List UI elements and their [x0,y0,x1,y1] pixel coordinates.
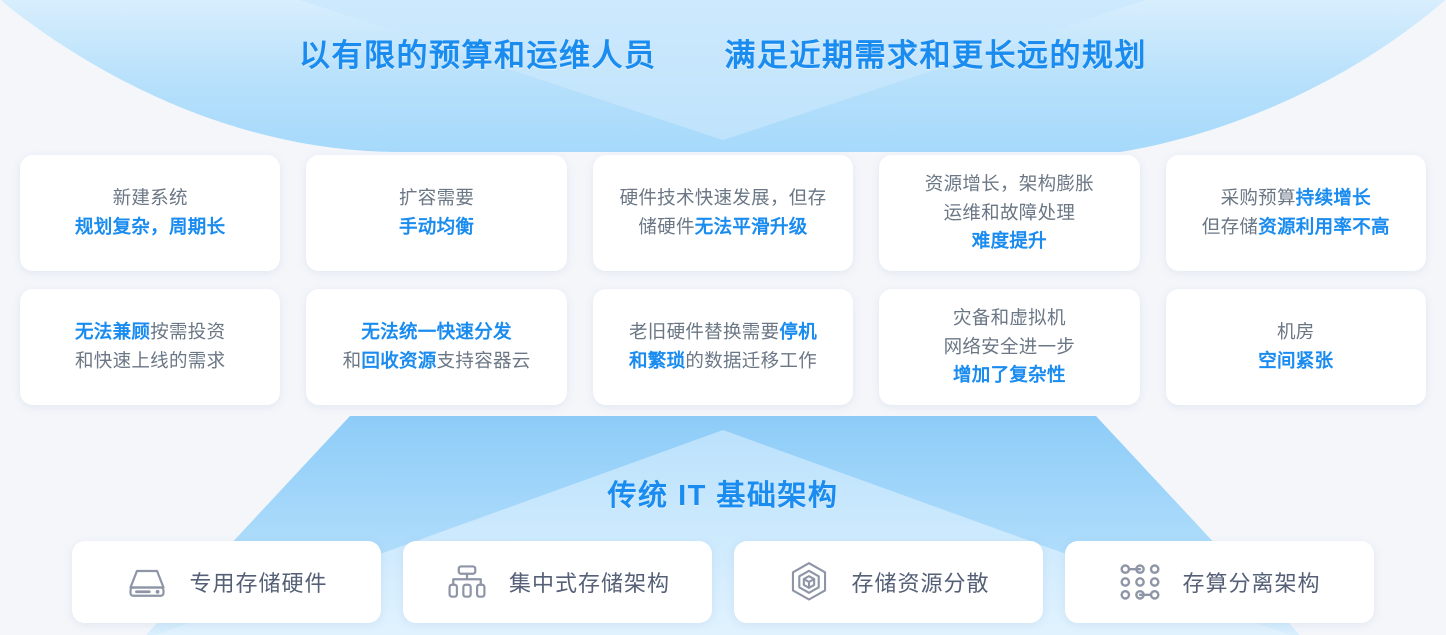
card-datacenter-space: 机房空间紧张 [1166,289,1426,405]
card-legacy-migration: 老旧硬件替换需要停机和繁琐的数据迁移工作 [593,289,853,405]
legacy-architecture-items: 专用存储硬件 集中式存储架构 [72,541,1374,623]
card-text: 机房空间紧张 [1258,318,1333,375]
item-label: 集中式存储架构 [509,566,670,598]
card-resource-growth: 资源增长，架构膨胀运维和故障处理难度提升 [879,155,1139,271]
card-text: 灾备和虚拟机网络安全进一步增加了复杂性 [944,304,1076,390]
bg-top-left-corner [0,0,420,160]
top-heading-1: 以有限的预算和运维人员 [299,30,657,75]
card-text: 资源增长，架构膨胀运维和故障处理难度提升 [925,170,1094,256]
card-text: 老旧硬件替换需要停机和繁琐的数据迁移工作 [629,318,817,375]
pain-point-card-grid: 新建系统规划复杂，周期长 扩容需要手动均衡 硬件技术快速发展，但存储硬件无法平滑… [20,155,1426,405]
top-heading-2: 满足近期需求和更长远的规划 [725,30,1148,75]
bg-top-left-cutout [0,0,400,152]
item-label: 存储资源分散 [851,566,989,598]
node-grid-icon [1118,560,1162,604]
item-dedicated-storage-hardware[interactable]: 专用存储硬件 [72,541,381,623]
top-headings: 以有限的预算和运维人员 满足近期需求和更长远的规划 [0,30,1446,75]
hierarchy-icon [445,560,489,604]
item-scattered-resources[interactable]: 存储资源分散 [734,541,1043,623]
card-ondemand-invest: 无法兼顾按需投资和快速上线的需求 [20,289,280,405]
band-title: 传统 IT 基础架构 [0,472,1446,514]
hexagon-cube-icon [787,560,831,604]
item-label: 存算分离架构 [1182,566,1320,598]
item-label: 专用存储硬件 [189,566,327,598]
bg-top-block [0,0,1446,152]
card-text: 无法统一快速分发和回收资源支持容器云 [343,318,531,375]
card-unified-delivery: 无法统一快速分发和回收资源支持容器云 [306,289,566,405]
bg-top-right-corner [1026,0,1446,160]
card-budget-growth: 采购预算持续增长但存储资源利用率不高 [1166,155,1426,271]
item-compute-storage-separation[interactable]: 存算分离架构 [1065,541,1374,623]
card-text: 硬件技术快速发展，但存储硬件无法平滑升级 [620,184,827,241]
card-text: 新建系统规划复杂，周期长 [75,184,225,241]
item-centralized-architecture[interactable]: 集中式存储架构 [403,541,712,623]
card-hardware-upgrade: 硬件技术快速发展，但存储硬件无法平滑升级 [593,155,853,271]
card-dr-security: 灾备和虚拟机网络安全进一步增加了复杂性 [879,289,1139,405]
card-text: 扩容需要手动均衡 [399,184,474,241]
card-expansion: 扩容需要手动均衡 [306,155,566,271]
card-text: 无法兼顾按需投资和快速上线的需求 [75,318,225,375]
infographic-root: 以有限的预算和运维人员 满足近期需求和更长远的规划 新建系统规划复杂，周期长 扩… [0,0,1446,635]
card-text: 采购预算持续增长但存储资源利用率不高 [1202,184,1390,241]
card-new-system: 新建系统规划复杂，周期长 [20,155,280,271]
storage-drive-icon [125,560,169,604]
